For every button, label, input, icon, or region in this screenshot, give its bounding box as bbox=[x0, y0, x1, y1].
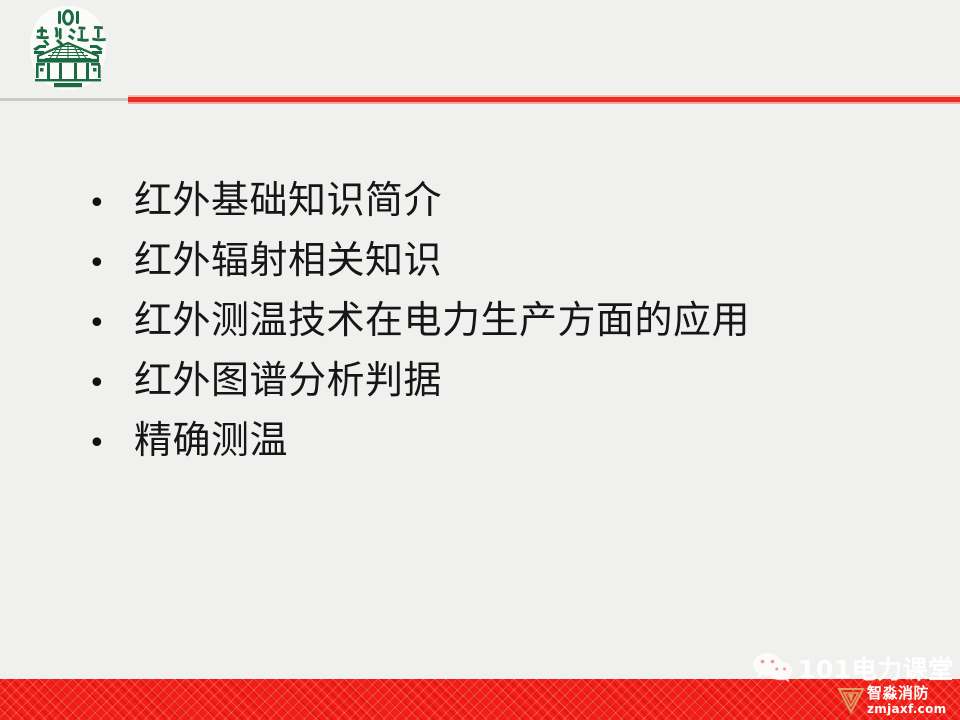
bullet-marker-icon: • bbox=[88, 174, 134, 234]
bullet-text: 红外辐射相关知识 bbox=[134, 230, 442, 290]
bullet-marker-icon: • bbox=[88, 414, 134, 474]
wechat-icon bbox=[752, 651, 794, 685]
list-item: • 红外图谱分析判据 bbox=[88, 350, 918, 410]
bullet-text: 红外基础知识简介 bbox=[134, 170, 442, 230]
bullet-text: 精确测温 bbox=[134, 410, 288, 470]
list-item: • 红外测温技术在电力生产方面的应用 bbox=[88, 290, 918, 350]
watermark-brand-name: 智淼消防 bbox=[867, 686, 946, 701]
divider-gray-segment bbox=[0, 98, 128, 101]
list-item: • 红外基础知识简介 bbox=[88, 170, 918, 230]
bullet-list: • 红外基础知识简介 • 红外辐射相关知识 • 红外测温技术在电力生产方面的应用… bbox=[88, 170, 918, 470]
bullet-marker-icon: • bbox=[88, 294, 134, 354]
divider-red-segment bbox=[128, 95, 960, 104]
header-divider bbox=[0, 95, 960, 104]
bullet-text: 红外测温技术在电力生产方面的应用 bbox=[134, 290, 750, 350]
wechat-account-label: 101电力课堂 bbox=[798, 650, 954, 686]
watermark-url: zmjaxf.com bbox=[867, 703, 946, 715]
list-item: • 精确测温 bbox=[88, 410, 918, 470]
watermark-text-group: 智淼消防 zmjaxf.com bbox=[867, 686, 946, 715]
list-item: • 红外辐射相关知识 bbox=[88, 230, 918, 290]
presentation-slide: • 红外基础知识简介 • 红外辐射相关知识 • 红外测温技术在电力生产方面的应用… bbox=[0, 0, 960, 720]
site-watermark: 智淼消防 zmjaxf.com bbox=[836, 682, 960, 718]
academy-building-logo bbox=[14, 2, 122, 94]
bullet-text: 红外图谱分析判据 bbox=[134, 350, 442, 410]
bullet-marker-icon: • bbox=[88, 234, 134, 294]
zmjaxf-shield-icon bbox=[836, 685, 866, 715]
bullet-marker-icon: • bbox=[88, 354, 134, 414]
